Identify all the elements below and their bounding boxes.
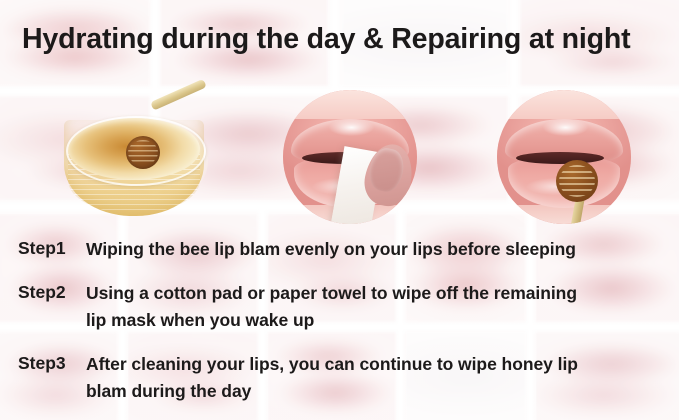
honey-dipper-head-icon	[126, 136, 160, 169]
step-description: Using a cotton pad or paper towel to wip…	[86, 280, 668, 334]
honey-bowl-photo	[60, 96, 210, 218]
skin-area	[497, 90, 631, 119]
instruction-step: Step2 Using a cotton pad or paper towel …	[18, 280, 668, 334]
step-label: Step2	[18, 280, 86, 304]
instruction-step: Step1 Wiping the bee lip blam evenly on …	[18, 236, 668, 263]
step-description-line: Wiping the bee lip blam evenly on your l…	[86, 239, 576, 259]
honey-dipper-handle-icon	[150, 79, 207, 111]
step-label: Step3	[18, 351, 86, 375]
step-description-line: Using a cotton pad or paper towel to wip…	[86, 283, 577, 303]
instruction-step: Step3 After cleaning your lips, you can …	[18, 351, 668, 405]
step-description-line: blam during the day	[86, 378, 668, 405]
step-description-line: lip mask when you wake up	[86, 307, 668, 334]
honey-dipper-head-icon	[556, 160, 598, 202]
lip-gloss-highlight	[543, 119, 589, 135]
step-description-line: After cleaning your lips, you can contin…	[86, 354, 578, 374]
step-description: Wiping the bee lip blam evenly on your l…	[86, 236, 668, 263]
product-instruction-banner: Hydrating during the day & Repairing at …	[0, 0, 679, 420]
step-description: After cleaning your lips, you can contin…	[86, 351, 668, 405]
skin-area	[283, 90, 417, 119]
product-photo-row	[0, 84, 679, 230]
lips-honey-dipper-photo	[497, 90, 631, 224]
lips-cotton-pad-photo	[283, 90, 417, 224]
lip-gloss-highlight	[329, 119, 375, 135]
honey-dipper-icon	[556, 160, 618, 224]
instruction-steps-list: Step1 Wiping the bee lip blam evenly on …	[18, 236, 668, 420]
step-label: Step1	[18, 236, 86, 260]
page-title: Hydrating during the day & Repairing at …	[22, 22, 658, 56]
